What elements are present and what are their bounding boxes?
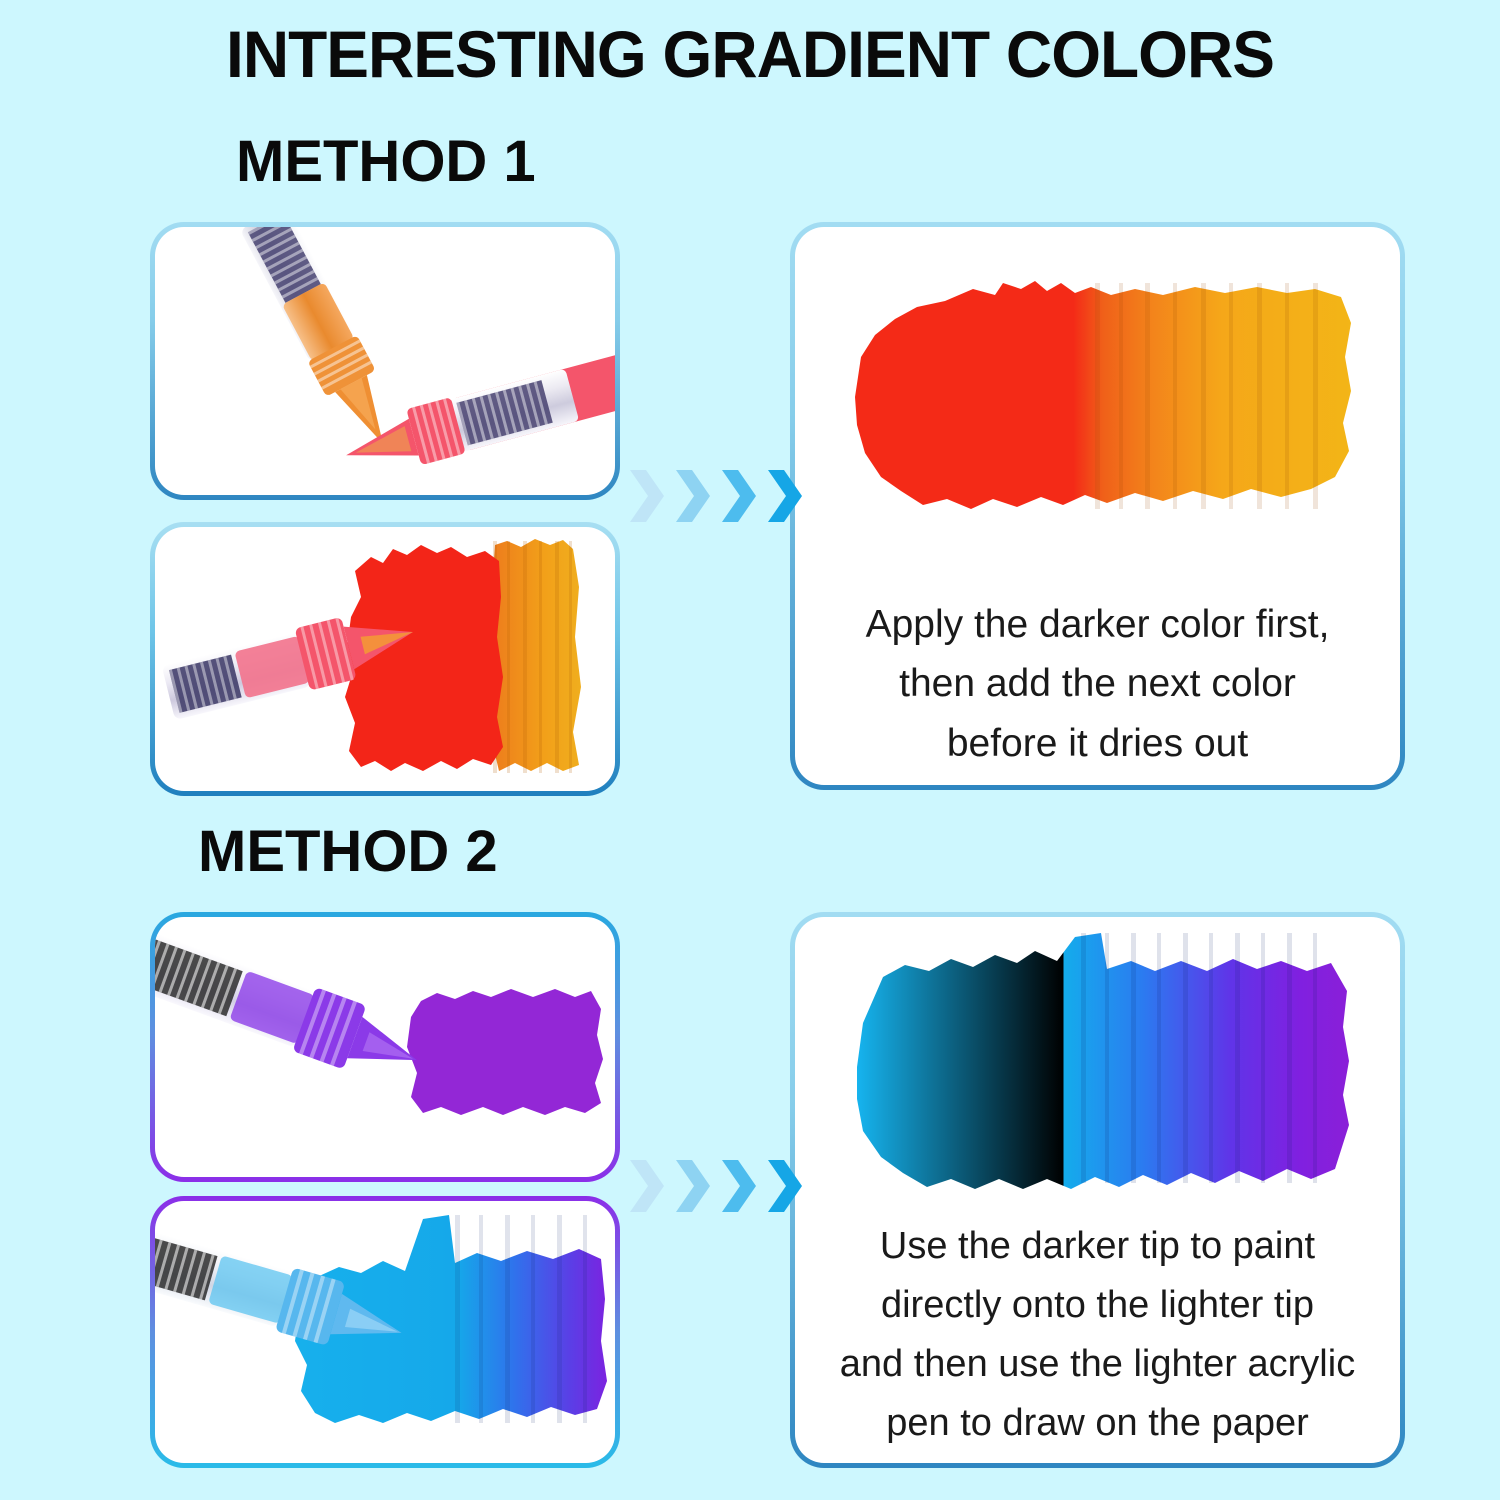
chevron-right-icon <box>718 1158 760 1214</box>
method-2-step-2-panel[interactable] <box>150 1196 620 1468</box>
chevron-right-icon <box>764 468 806 524</box>
blue-pen-drawing-blue-to-purple-photo <box>155 1201 615 1463</box>
caption-line: and then use the lighter acrylic <box>817 1335 1378 1394</box>
chevron-right-icon <box>672 1158 714 1214</box>
method-1-step-2-panel[interactable] <box>150 522 620 796</box>
panel-content-area: Apply the darker color first, then add t… <box>795 227 1400 785</box>
caption-line: pen to draw on the paper <box>817 1394 1378 1453</box>
caption-line: before it dries out <box>817 714 1378 773</box>
panel-photo-area <box>155 917 615 1177</box>
caption-line: then add the next color <box>817 654 1378 713</box>
method-2-result-panel[interactable]: Use the darker tip to paint directly ont… <box>790 912 1405 1468</box>
chevron-arrow-group-1 <box>626 468 806 524</box>
purple-pen-with-purple-swatch-photo <box>155 917 615 1177</box>
orange-pen-touching-red-pen-photo <box>155 227 615 495</box>
panel-photo-area <box>155 527 615 791</box>
red-pen-drawing-over-orange-photo <box>155 527 615 791</box>
method-2-step-1-panel[interactable] <box>150 912 620 1182</box>
panel-photo-area <box>155 227 615 495</box>
chevron-right-icon <box>626 1158 668 1214</box>
caption-line: directly onto the lighter tip <box>817 1276 1378 1335</box>
method-1-heading: METHOD 1 <box>236 128 536 195</box>
panel-photo-area <box>155 1201 615 1463</box>
caption-line: Apply the darker color first, <box>817 595 1378 654</box>
method-1-caption: Apply the darker color first, then add t… <box>795 595 1400 773</box>
method-2-heading: METHOD 2 <box>198 818 498 885</box>
chevron-arrow-group-2 <box>626 1158 806 1214</box>
caption-line: Use the darker tip to paint <box>817 1217 1378 1276</box>
panel-content-area: Use the darker tip to paint directly ont… <box>795 917 1400 1463</box>
chevron-right-icon <box>718 468 760 524</box>
chevron-right-icon <box>672 468 714 524</box>
method-1-step-1-panel[interactable] <box>150 222 620 500</box>
method-1-result-panel[interactable]: Apply the darker color first, then add t… <box>790 222 1405 790</box>
blue-to-purple-gradient-swatch <box>795 917 1400 1217</box>
chevron-right-icon <box>626 468 668 524</box>
page-title: INTERESTING GRADIENT COLORS <box>23 16 1478 92</box>
method-2-caption: Use the darker tip to paint directly ont… <box>795 1217 1400 1453</box>
chevron-right-icon <box>764 1158 806 1214</box>
red-to-orange-gradient-swatch <box>795 227 1400 557</box>
